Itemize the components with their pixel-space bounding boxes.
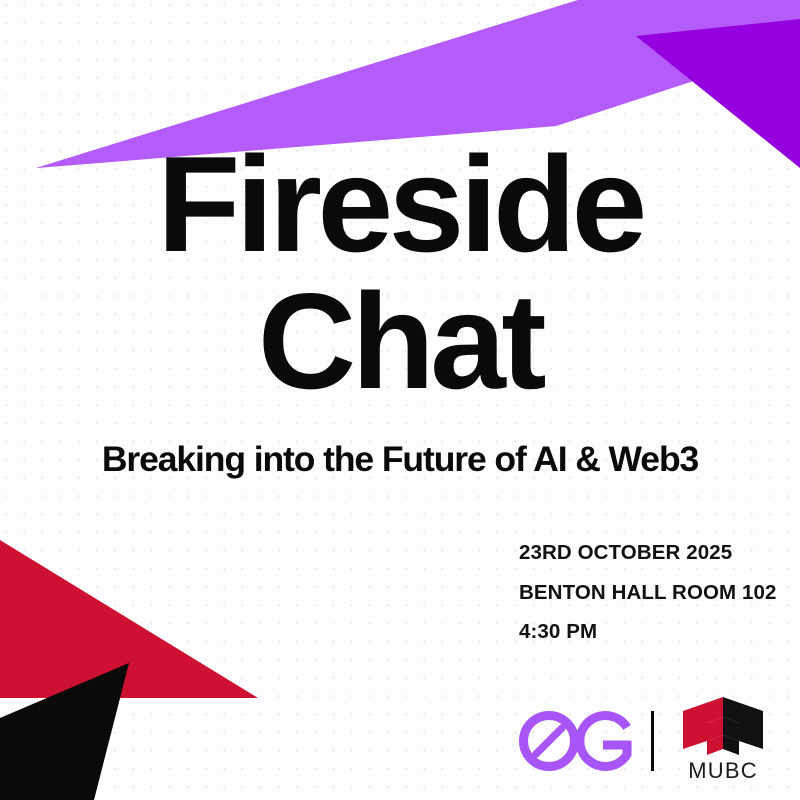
poster-headline: Fireside Chat: [0, 138, 800, 409]
event-venue: BENTON HALL ROOM 102: [519, 583, 789, 604]
event-time: 4:30 PM: [519, 622, 789, 643]
poster-subtitle: Breaking into the Future of AI & Web3: [0, 440, 800, 479]
0g-logo-icon: [519, 709, 635, 773]
event-details: 23RD OCTOBER 2025 BENTON HALL ROOM 102 4…: [519, 543, 789, 643]
event-date: 23RD OCTOBER 2025: [519, 543, 789, 564]
headline-line-2: Chat: [0, 275, 800, 408]
mubc-cube-icon: [677, 697, 769, 759]
headline-line-1: Fireside: [0, 138, 800, 271]
logo-divider: [651, 711, 654, 771]
event-poster: Fireside Chat Breaking into the Future o…: [0, 0, 800, 800]
mubc-logo: MUBC: [671, 697, 775, 785]
mubc-wordmark: MUBC: [688, 760, 758, 782]
logo-strip: MUBC: [519, 695, 781, 787]
